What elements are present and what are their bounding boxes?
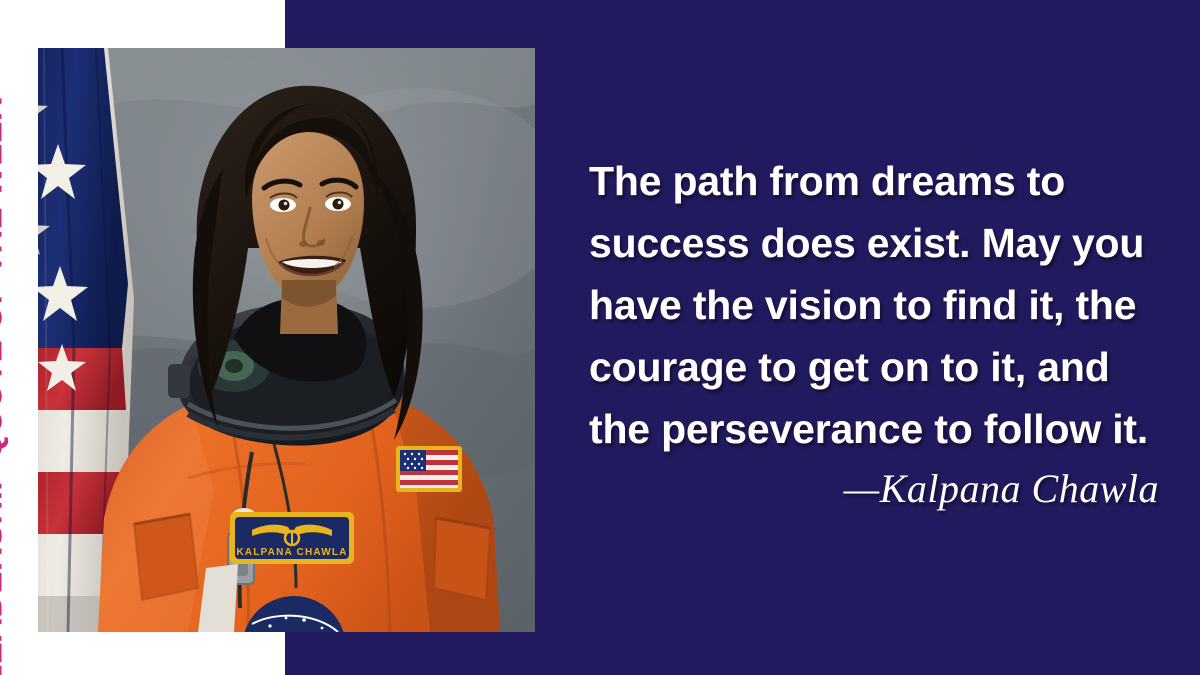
quote-line-4: courage to get on to it, and [589, 336, 1159, 398]
name-patch: KALPANA CHAWLA [230, 512, 354, 564]
svg-text:KALPANA CHAWLA: KALPANA CHAWLA [236, 547, 347, 558]
flag-shoulder-patch [396, 446, 462, 492]
quote-line-5: the perseverance to follow it. [589, 398, 1159, 460]
quote-line-2: success does exist. May you [589, 212, 1159, 274]
quote-text: The path from dreams to success does exi… [589, 150, 1159, 460]
quote-line-3: have the vision to find it, the [589, 274, 1159, 336]
vertical-banner-label: LEADERSHIP QUOTE OF THE WEEK [0, 97, 7, 675]
astronaut-portrait-photo: KALPANA CHAWLA [38, 48, 535, 632]
quote-line-1: The path from dreams to [589, 150, 1159, 212]
quote-attribution: —Kalpana Chawla [589, 463, 1159, 515]
portrait-illustration: KALPANA CHAWLA [38, 48, 535, 632]
quote-card: KALPANA CHAWLA [0, 0, 1200, 675]
vertical-banner: LEADERSHIP QUOTE OF THE WEEK [0, 0, 46, 675]
